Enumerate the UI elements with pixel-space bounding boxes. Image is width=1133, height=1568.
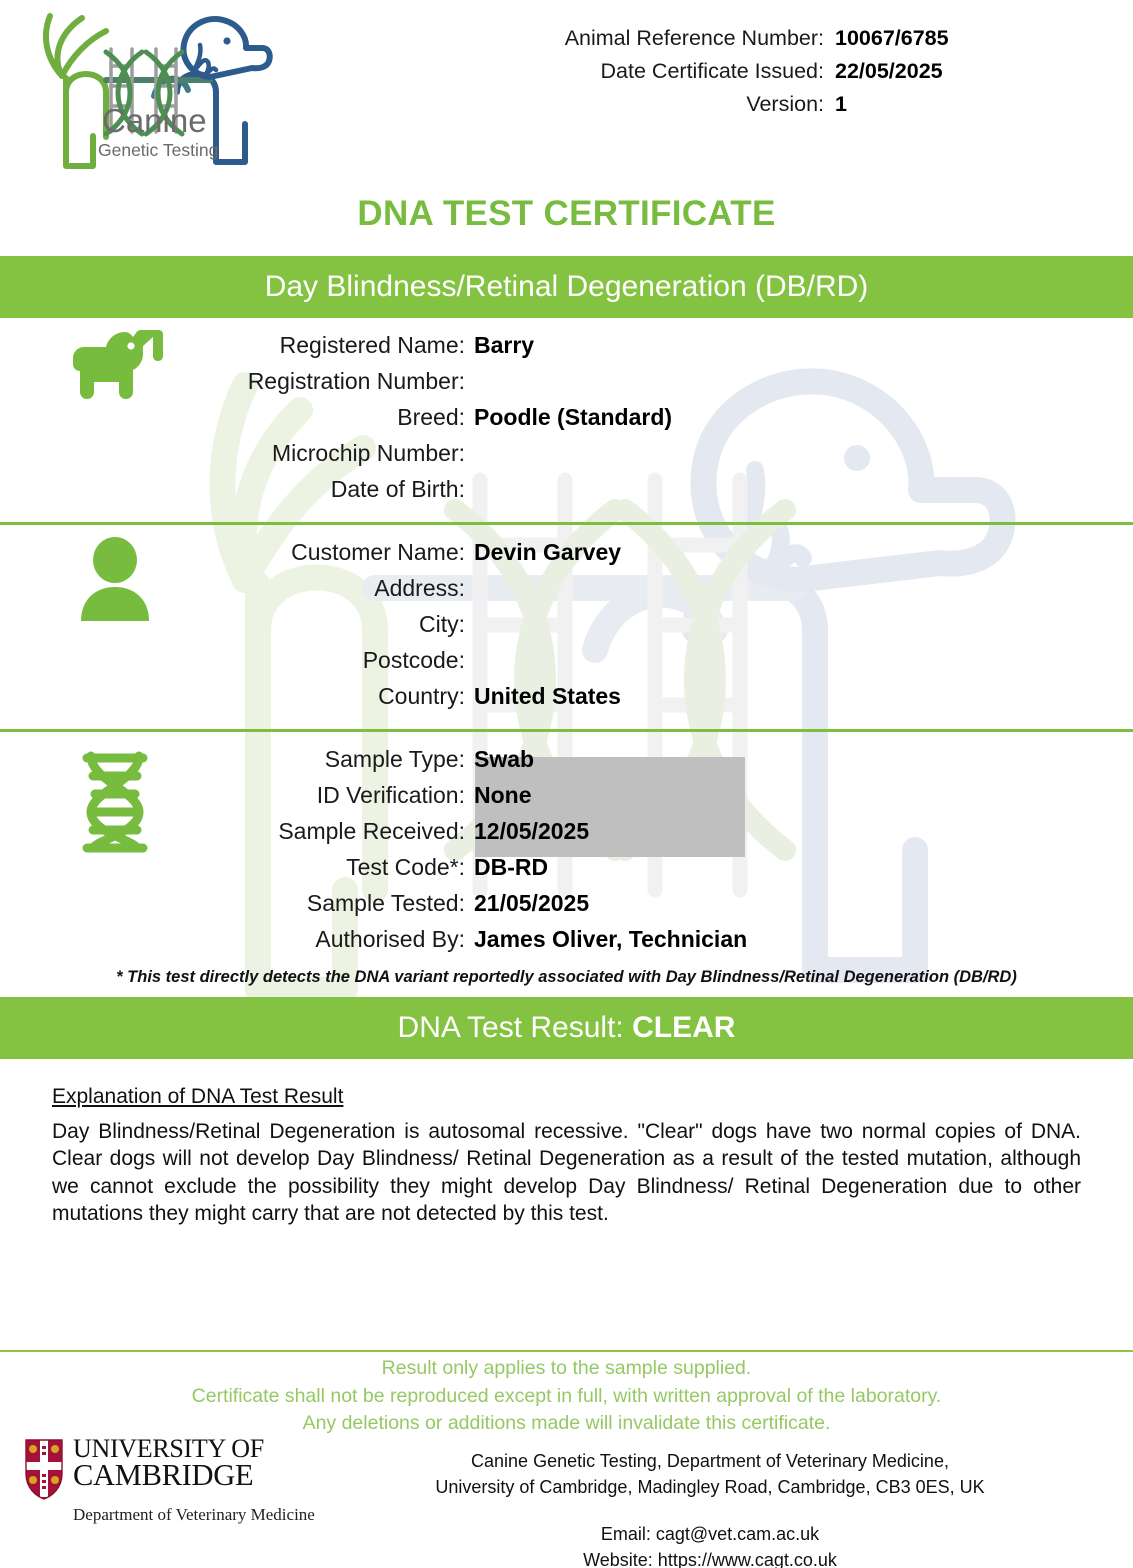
cambridge-department: Department of Veterinary Medicine [73, 1505, 334, 1525]
disclaimer-line-1: Result only applies to the sample suppli… [0, 1355, 1133, 1383]
test-code-value: DB-RD [474, 854, 548, 881]
dog-icon [55, 330, 175, 408]
registered-name-value: Barry [474, 332, 534, 359]
page-title: DNA TEST CERTIFICATE [0, 194, 1133, 234]
customer-details-section: Customer Name: Devin Garvey Address: Cit… [0, 525, 1133, 729]
result-value: CLEAR [632, 1011, 735, 1044]
table-row: Sample Tested: 21/05/2025 [0, 890, 1133, 926]
cambridge-line-2: CAMBRIDGE [73, 1461, 264, 1491]
meta-row: Version: 1 [565, 92, 985, 125]
authorised-by-value: James Oliver, Technician [474, 926, 747, 953]
footer-divider [0, 1350, 1133, 1352]
country-value: United States [474, 683, 621, 710]
lab-website: Website: https://www.cagt.co.uk [360, 1548, 1060, 1568]
animal-reference-label: Animal Reference Number: [565, 26, 824, 51]
table-row: Microchip Number: [0, 440, 1133, 476]
date-issued-label: Date Certificate Issued: [601, 59, 824, 84]
page-header: Canine Genetic Testing Animal Reference … [0, 0, 1133, 180]
version-value: 1 [835, 92, 985, 117]
meta-row: Date Certificate Issued: 22/05/2025 [565, 59, 985, 92]
cambridge-crest-icon [24, 1438, 64, 1500]
disclaimer-block: Result only applies to the sample suppli… [0, 1355, 1133, 1438]
test-name-band: Day Blindness/Retinal Degeneration (DB/R… [0, 256, 1133, 318]
meta-row: Animal Reference Number: 10067/6785 [565, 26, 985, 59]
breed-label: Breed: [0, 404, 465, 431]
lab-address-line-2: University of Cambridge, Madingley Road,… [360, 1474, 1060, 1500]
table-row: Postcode: [0, 647, 1133, 683]
canine-genetic-testing-logo: Canine Genetic Testing [14, 4, 279, 176]
explanation-body: Day Blindness/Retinal Degeneration is au… [52, 1118, 1081, 1227]
animal-details-section: Registered Name: Barry Registration Numb… [0, 318, 1133, 522]
version-label: Version: [746, 92, 824, 117]
breed-value: Poodle (Standard) [474, 404, 672, 431]
test-code-footnote: * This test directly detects the DNA var… [0, 968, 1133, 987]
explanation-section: Explanation of DNA Test Result Day Blind… [0, 1059, 1133, 1227]
table-row: Test Code*: DB-RD [0, 854, 1133, 890]
sample-type-value: Swab [474, 746, 534, 773]
university-of-cambridge-logo: UNIVERSITY OF CAMBRIDGE Department of Ve… [24, 1436, 334, 1525]
disclaimer-line-2: Certificate shall not be reproduced exce… [0, 1383, 1133, 1411]
dna-helix-icon [55, 750, 175, 854]
lab-email: Email: cagt@vet.cam.ac.uk [360, 1522, 1060, 1548]
person-icon [55, 537, 175, 621]
logo-subtitle: Genetic Testing [98, 140, 218, 160]
table-row: Date of Birth: [0, 476, 1133, 512]
sample-tested-value: 21/05/2025 [474, 890, 589, 917]
certificate-page: Canine Genetic Testing Animal Reference … [0, 0, 1133, 1568]
logo-wordmark: Canine [102, 102, 207, 139]
sample-details-section: Sample Type: Swab ID Verification: None … [0, 732, 1133, 997]
test-code-label: Test Code*: [0, 854, 465, 881]
postcode-label: Postcode: [0, 647, 465, 674]
explanation-heading: Explanation of DNA Test Result [52, 1085, 1081, 1109]
dna-test-result-band: DNA Test Result: CLEAR [0, 997, 1133, 1059]
lab-address-line-1: Canine Genetic Testing, Department of Ve… [360, 1448, 1060, 1474]
lab-contact-block: Email: cagt@vet.cam.ac.uk Website: https… [360, 1522, 1060, 1568]
footer: UNIVERSITY OF CAMBRIDGE Department of Ve… [0, 1448, 1133, 1568]
country-label: Country: [0, 683, 465, 710]
table-row: Breed: Poodle (Standard) [0, 404, 1133, 440]
lab-address-block: Canine Genetic Testing, Department of Ve… [360, 1448, 1060, 1568]
table-row: Country: United States [0, 683, 1133, 719]
sample-received-value: 12/05/2025 [474, 818, 589, 845]
customer-name-value: Devin Garvey [474, 539, 621, 566]
sample-tested-label: Sample Tested: [0, 890, 465, 917]
date-of-birth-label: Date of Birth: [0, 476, 465, 503]
table-row: Authorised By: James Oliver, Technician [0, 926, 1133, 962]
date-issued-value: 22/05/2025 [835, 59, 985, 84]
animal-reference-value: 10067/6785 [835, 26, 985, 51]
result-label: DNA Test Result: [398, 1011, 633, 1044]
id-verification-value: None [474, 782, 532, 809]
microchip-number-label: Microchip Number: [0, 440, 465, 467]
authorised-by-label: Authorised By: [0, 926, 465, 953]
certificate-meta: Animal Reference Number: 10067/6785 Date… [565, 26, 985, 125]
